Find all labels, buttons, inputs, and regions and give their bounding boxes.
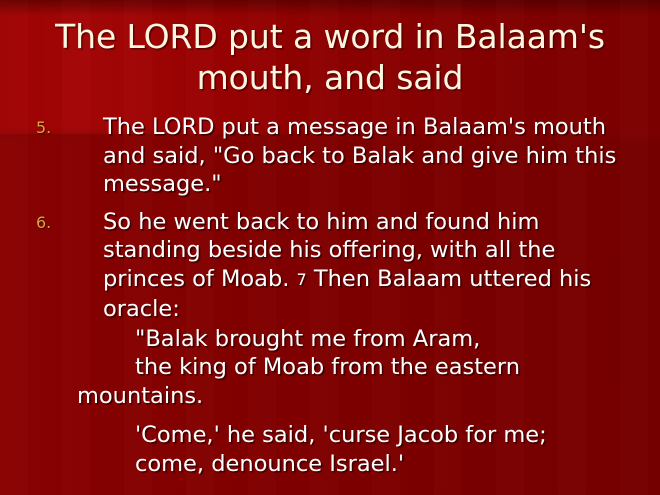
- verse-number-7: 7: [297, 270, 307, 289]
- numbered-paragraph: 5. The LORD put a message in Balaam's mo…: [0, 113, 660, 199]
- list-marker-5: 5.: [36, 115, 66, 141]
- list-marker-6: 6.: [36, 210, 66, 236]
- slide-canvas: The LORD put a word in Balaam's mouth, a…: [0, 0, 660, 495]
- background-top-vignette: [0, 0, 660, 16]
- slide-body: 5. The LORD put a message in Balaam's mo…: [0, 113, 660, 478]
- quote-line: mountains.: [0, 382, 660, 411]
- numbered-paragraph: 6. So he went back to him and found him …: [0, 208, 660, 324]
- quote-line: "Balak brought me from Aram,: [0, 325, 660, 354]
- quote-line: come, denounce Israel.': [0, 450, 660, 479]
- quote-line: 'Come,' he said, 'curse Jacob for me;: [0, 421, 660, 450]
- slide-title: The LORD put a word in Balaam's mouth, a…: [18, 16, 642, 98]
- paragraph-text-6: So he went back to him and found him sta…: [77, 208, 644, 324]
- paragraph-text-5: The LORD put a message in Balaam's mouth…: [77, 113, 644, 199]
- quoted-oracle-block: "Balak brought me from Aram, the king of…: [0, 325, 660, 479]
- quote-spacer: [0, 410, 660, 421]
- quote-line: the king of Moab from the eastern: [0, 353, 660, 382]
